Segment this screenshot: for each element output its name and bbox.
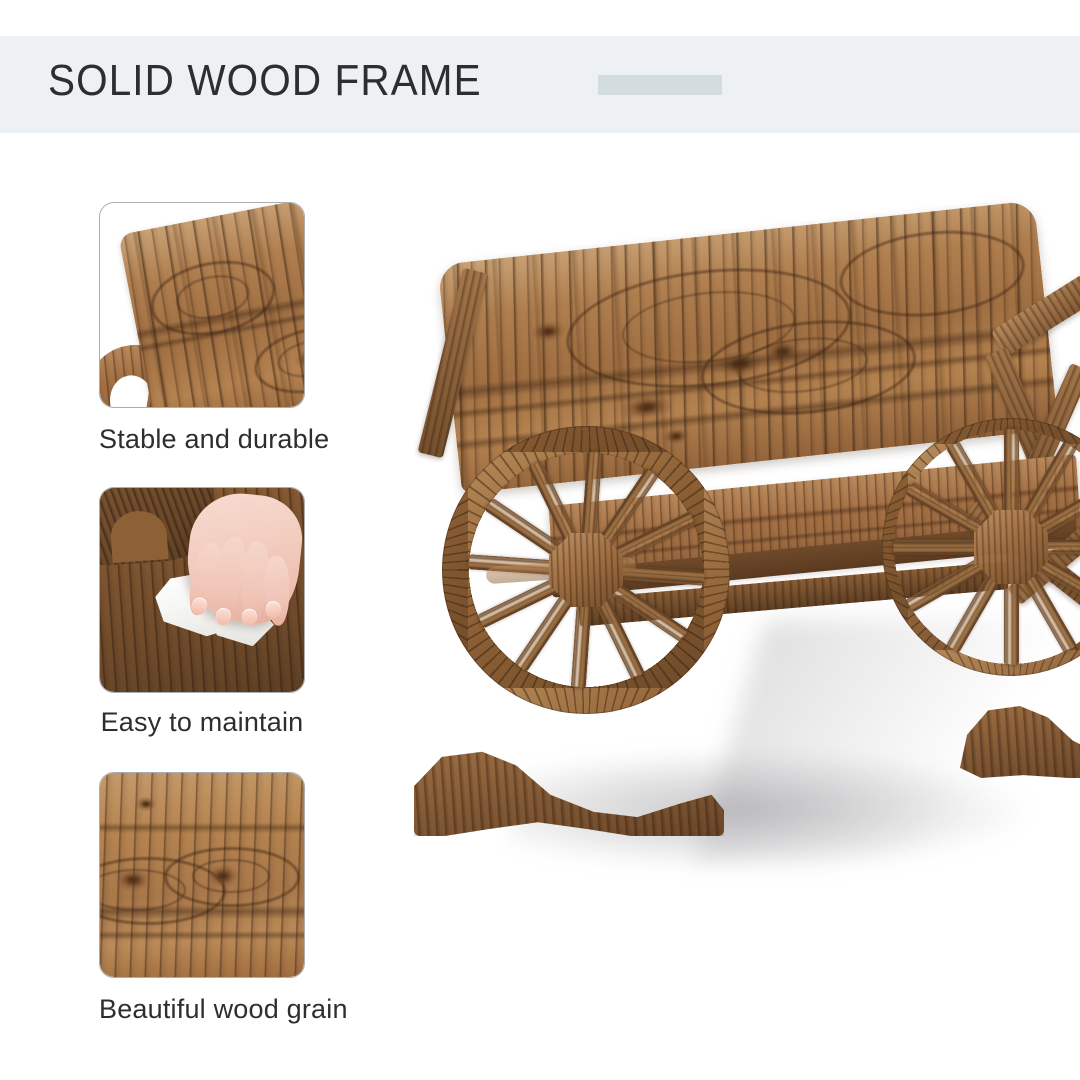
feature-thumbnail-easy-to-maintain xyxy=(99,487,305,693)
hero-product-image xyxy=(400,150,1080,980)
feature-caption: Stable and durable xyxy=(99,424,305,455)
feature-item-easy-to-maintain: Easy to maintain xyxy=(99,487,305,738)
thumbnail-image-wood-grain xyxy=(100,773,304,977)
feature-caption: Beautiful wood grain xyxy=(99,994,305,1025)
feature-item-beautiful-wood-grain: Beautiful wood grain xyxy=(99,772,305,1025)
thumbnail-image-backrest-corner xyxy=(100,203,304,407)
header-accent-bar xyxy=(598,75,722,95)
thumbnail-image-hand-wiping-wood xyxy=(100,488,304,692)
feature-item-stable-and-durable: Stable and durable xyxy=(99,202,305,455)
feature-thumbnail-beautiful-wood-grain xyxy=(99,772,305,978)
feature-caption: Easy to maintain xyxy=(99,707,305,738)
feature-list: Stable and durable E xyxy=(0,0,400,1080)
wagon-wheel-right xyxy=(882,418,1080,676)
feature-thumbnail-stable-and-durable xyxy=(99,202,305,408)
backrest-panel-detail xyxy=(118,203,304,407)
wagon-wheel-left xyxy=(442,426,730,714)
